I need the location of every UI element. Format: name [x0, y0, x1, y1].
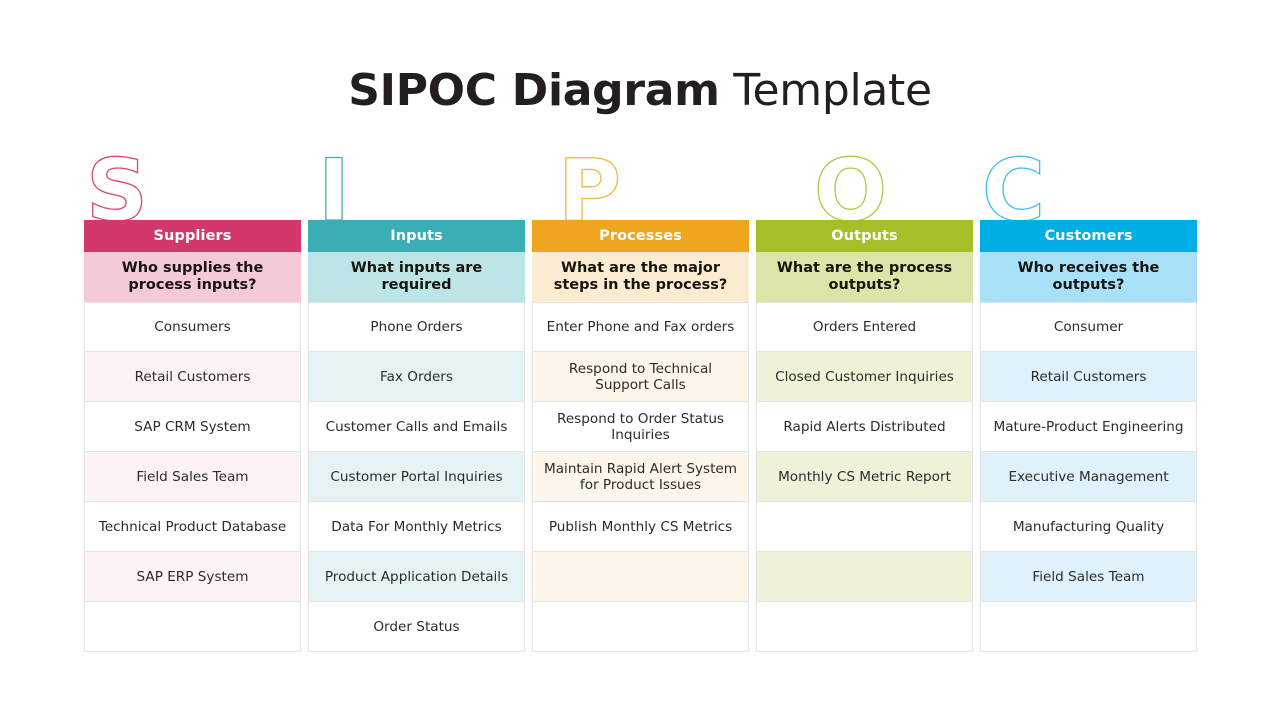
table-row: Field Sales Team	[84, 452, 301, 502]
table-row	[980, 602, 1197, 652]
table-row	[84, 602, 301, 652]
table-row: Mature-Product Engineering	[980, 402, 1197, 452]
column-question-customers: Who receives the outputs?	[980, 252, 1197, 302]
title-bold-part: SIPOC Diagram	[348, 65, 719, 116]
title-light-part	[720, 65, 734, 116]
table-row: SAP ERP System	[84, 552, 301, 602]
table-row: Data For Monthly Metrics	[308, 502, 525, 552]
table-row: Executive Management	[980, 452, 1197, 502]
sipoc-column-customers: C Customers Who receives the outputs? Co…	[980, 154, 1197, 662]
column-header-inputs: Inputs	[308, 220, 525, 252]
table-row	[532, 602, 749, 652]
table-row: Order Status	[308, 602, 525, 652]
table-row: Manufacturing Quality	[980, 502, 1197, 552]
table-row: Maintain Rapid Alert System for Product …	[532, 452, 749, 502]
column-question-suppliers: Who supplies the process inputs?	[84, 252, 301, 302]
column-question-inputs: What inputs are required	[308, 252, 525, 302]
table-row: Phone Orders	[308, 302, 525, 352]
sipoc-table: S Suppliers Who supplies the process inp…	[84, 154, 1197, 662]
table-row: Product Application Details	[308, 552, 525, 602]
table-row: Retail Customers	[84, 352, 301, 402]
column-question-processes: What are the major steps in the process?	[532, 252, 749, 302]
table-row: Retail Customers	[980, 352, 1197, 402]
table-row: Orders Entered	[756, 302, 973, 352]
table-row: Field Sales Team	[980, 552, 1197, 602]
table-row: Customer Calls and Emails	[308, 402, 525, 452]
table-row	[756, 552, 973, 602]
slide-canvas: SIPOC Diagram Template S Suppliers Who s…	[0, 0, 1280, 720]
column-question-outputs: What are the process outputs?	[756, 252, 973, 302]
table-row	[756, 602, 973, 652]
table-row: Respond to Order Status Inquiries	[532, 402, 749, 452]
column-header-processes: Processes	[532, 220, 749, 252]
table-row: Monthly CS Metric Report	[756, 452, 973, 502]
sipoc-column-inputs: I Inputs What inputs are required Phone …	[308, 154, 525, 662]
table-row: Consumer	[980, 302, 1197, 352]
table-row	[756, 502, 973, 552]
table-row: Respond to Technical Support Calls	[532, 352, 749, 402]
column-header-suppliers: Suppliers	[84, 220, 301, 252]
column-header-customers: Customers	[980, 220, 1197, 252]
table-row: Enter Phone and Fax orders	[532, 302, 749, 352]
page-title: SIPOC Diagram Template	[0, 62, 1280, 120]
table-row: Customer Portal Inquiries	[308, 452, 525, 502]
table-row: Publish Monthly CS Metrics	[532, 502, 749, 552]
sipoc-column-processes: P Processes What are the major steps in …	[532, 154, 749, 662]
table-row: Technical Product Database	[84, 502, 301, 552]
title-light-word: Template	[733, 65, 931, 116]
sipoc-column-suppliers: S Suppliers Who supplies the process inp…	[84, 154, 301, 662]
table-row: Rapid Alerts Distributed	[756, 402, 973, 452]
table-row	[532, 552, 749, 602]
column-header-outputs: Outputs	[756, 220, 973, 252]
table-row: Closed Customer Inquiries	[756, 352, 973, 402]
table-row: Consumers	[84, 302, 301, 352]
table-row: SAP CRM System	[84, 402, 301, 452]
table-row: Fax Orders	[308, 352, 525, 402]
sipoc-column-outputs: O Outputs What are the process outputs? …	[756, 154, 973, 662]
